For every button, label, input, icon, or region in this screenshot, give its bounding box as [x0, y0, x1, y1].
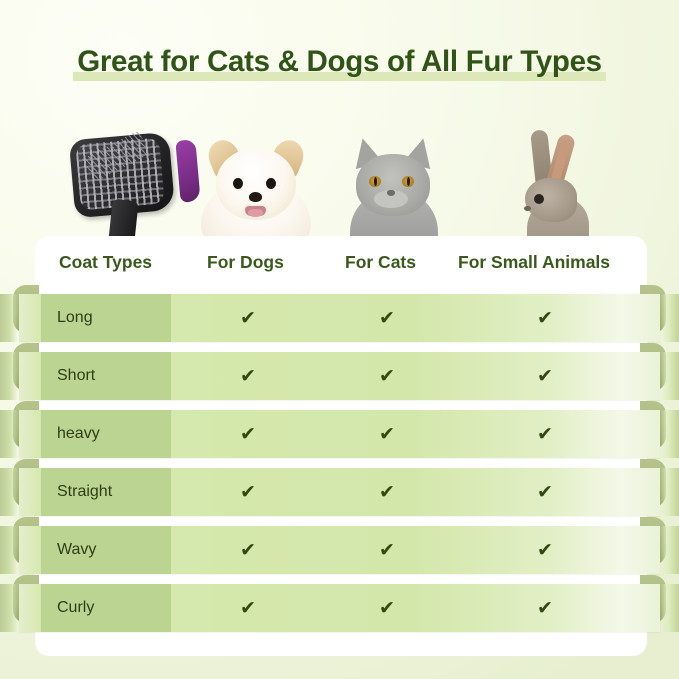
- coat-type-cell: heavy: [41, 410, 171, 458]
- table-row: Curly✔✔✔: [0, 584, 679, 632]
- ribbon-fold-right: [661, 584, 679, 632]
- check-for-cats: ✔: [367, 468, 407, 516]
- column-header-for-dogs: For Dogs: [207, 252, 284, 273]
- coat-type-cell: Long: [41, 294, 171, 342]
- check-for-dogs: ✔: [228, 410, 268, 458]
- coat-type-label: heavy: [57, 425, 100, 443]
- coat-type-label: Short: [57, 367, 95, 385]
- check-for-dogs: ✔: [228, 526, 268, 574]
- check-for-dogs: ✔: [228, 352, 268, 400]
- ribbon-fold-right: [661, 526, 679, 574]
- table-row: Straight✔✔✔: [0, 468, 679, 516]
- coat-type-cell: Short: [41, 352, 171, 400]
- table-header-row: Coat Types For Dogs For Cats For Small A…: [35, 236, 647, 288]
- column-header-coat-types: Coat Types: [59, 252, 152, 273]
- check-for-cats: ✔: [367, 526, 407, 574]
- page-title: Great for Cats & Dogs of All Fur Types: [0, 42, 679, 86]
- column-header-for-cats: For Cats: [345, 252, 416, 273]
- ribbon-fold-right: [661, 352, 679, 400]
- cat-photo: [338, 128, 448, 248]
- coat-type-cell: Straight: [41, 468, 171, 516]
- ribbon-fold-right: [661, 294, 679, 342]
- ribbon-fold-right: [661, 468, 679, 516]
- check-for-cats: ✔: [367, 584, 407, 632]
- comparison-table-body: Long✔✔✔Short✔✔✔heavy✔✔✔Straight✔✔✔Wavy✔✔…: [0, 294, 679, 642]
- coat-type-cell: Wavy: [41, 526, 171, 574]
- ribbon-fold-right: [661, 410, 679, 458]
- coat-type-label: Straight: [57, 483, 112, 501]
- check-for-small-animals: ✔: [525, 526, 565, 574]
- slicker-brush-icon: [62, 128, 192, 248]
- ribbon-fold-left: [0, 468, 18, 516]
- check-for-cats: ✔: [367, 352, 407, 400]
- ribbon-fold-left: [0, 410, 18, 458]
- check-for-dogs: ✔: [228, 294, 268, 342]
- coat-type-label: Curly: [57, 599, 94, 617]
- check-for-small-animals: ✔: [525, 352, 565, 400]
- coat-type-label: Wavy: [57, 541, 96, 559]
- check-for-small-animals: ✔: [525, 468, 565, 516]
- dog-photo: [195, 126, 317, 248]
- coat-type-cell: Curly: [41, 584, 171, 632]
- check-for-small-animals: ✔: [525, 584, 565, 632]
- table-row: Wavy✔✔✔: [0, 526, 679, 574]
- check-for-dogs: ✔: [228, 468, 268, 516]
- table-row: Long✔✔✔: [0, 294, 679, 342]
- ribbon-fold-left: [0, 352, 18, 400]
- rabbit-photo: [505, 130, 610, 248]
- table-row: Short✔✔✔: [0, 352, 679, 400]
- check-for-cats: ✔: [367, 410, 407, 458]
- ribbon-fold-left: [0, 584, 18, 632]
- check-for-small-animals: ✔: [525, 294, 565, 342]
- check-for-dogs: ✔: [228, 584, 268, 632]
- coat-type-label: Long: [57, 309, 93, 327]
- ribbon-fold-left: [0, 526, 18, 574]
- column-header-for-small-animals: For Small Animals: [458, 252, 610, 273]
- page-title-text: Great for Cats & Dogs of All Fur Types: [77, 42, 602, 82]
- table-row: heavy✔✔✔: [0, 410, 679, 458]
- hero-image-strip: [0, 118, 679, 248]
- check-for-small-animals: ✔: [525, 410, 565, 458]
- ribbon-fold-left: [0, 294, 18, 342]
- check-for-cats: ✔: [367, 294, 407, 342]
